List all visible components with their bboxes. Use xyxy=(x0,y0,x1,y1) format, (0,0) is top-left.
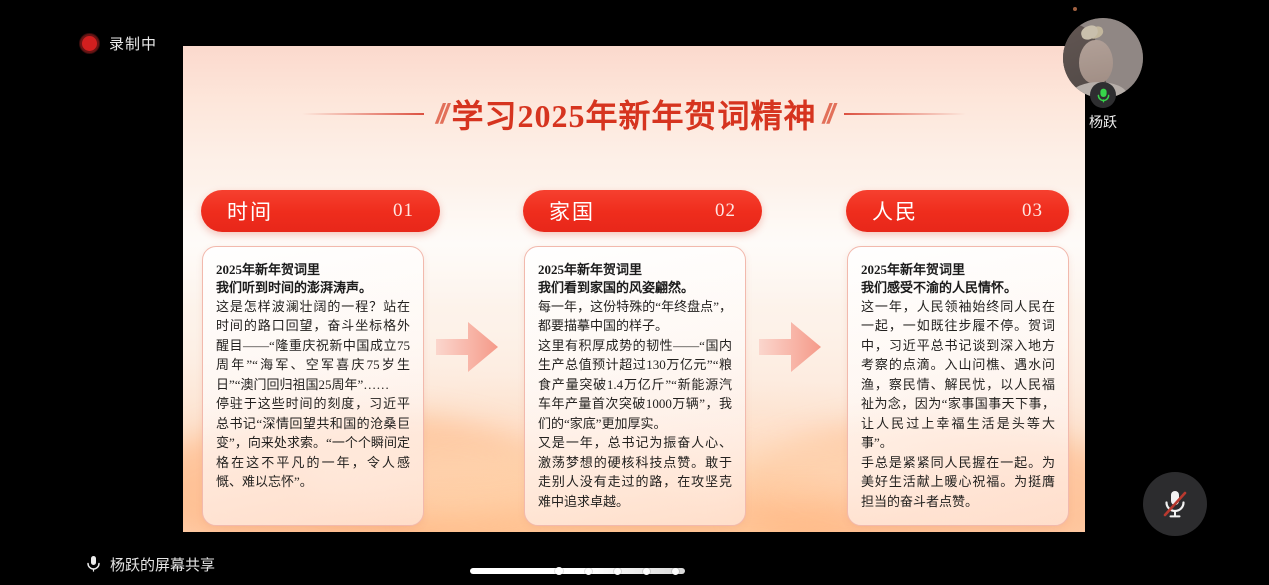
share-label: 杨跃的屏幕共享 xyxy=(110,554,215,575)
shared-slide[interactable]: // 学习2025年新年贺词精神 // 时间 01 家国 02 人民 03 20… xyxy=(183,46,1085,532)
section-number: 02 xyxy=(715,200,736,222)
page-dot[interactable] xyxy=(643,568,650,575)
microphone-icon xyxy=(1090,82,1116,108)
meeting-screen: 录制中 // 学习2025年新年贺词精神 // 时间 01 家国 02 人民 0 xyxy=(0,0,1269,585)
section-pill-03[interactable]: 人民 03 xyxy=(846,190,1069,232)
right-arrow-icon xyxy=(436,318,498,376)
section-name: 家国 xyxy=(549,196,595,226)
status-dot xyxy=(1073,7,1077,11)
section-number: 01 xyxy=(393,200,414,222)
card-body: 每一年，这份特殊的“年终盘点”，都要描摹中国的样子。这里有积厚成势的韧性——“国… xyxy=(538,297,732,512)
section-pill-01[interactable]: 时间 01 xyxy=(201,190,440,232)
recording-label: 录制中 xyxy=(109,33,157,54)
card-head-line1: 2025年新年贺词里 xyxy=(216,261,410,279)
title-slash-right: // xyxy=(823,100,833,128)
section-card-02: 2025年新年贺词里 我们看到家国的风姿翩然。 每一年，这份特殊的“年终盘点”，… xyxy=(524,246,746,526)
section-card-03: 2025年新年贺词里 我们感受不渝的人民情怀。 这一年，人民领袖始终同人民在一起… xyxy=(847,246,1069,526)
card-head-line1: 2025年新年贺词里 xyxy=(861,261,1055,279)
microphone-muted-button[interactable] xyxy=(1143,472,1207,536)
section-pill-02[interactable]: 家国 02 xyxy=(523,190,762,232)
page-dot[interactable] xyxy=(585,568,592,575)
microphone-muted-icon xyxy=(1162,489,1188,519)
title-rule-right xyxy=(844,113,966,115)
record-dot-icon xyxy=(80,34,99,53)
share-info: 杨跃的屏幕共享 xyxy=(86,554,215,575)
page-dot[interactable] xyxy=(555,567,563,575)
title-slash-left: // xyxy=(436,100,446,128)
page-dot[interactable] xyxy=(614,568,621,575)
card-body: 这是怎样波澜壮阔的一程？站在时间的路口回望，奋斗坐标格外醒目——“隆重庆祝新中国… xyxy=(216,297,410,492)
participant-name: 杨跃 xyxy=(1089,112,1117,132)
page-title: 学习2025年新年贺词精神 xyxy=(445,91,822,137)
card-head-line2: 我们感受不渝的人民情怀。 xyxy=(861,279,1055,297)
slide-title-row: // 学习2025年新年贺词精神 // xyxy=(183,91,1085,137)
card-head-line2: 我们看到家国的风姿翩然。 xyxy=(538,279,732,297)
title-rule-left xyxy=(302,113,424,115)
section-name: 人民 xyxy=(872,196,918,226)
section-number: 03 xyxy=(1022,200,1043,222)
share-status-bar: 杨跃的屏幕共享 xyxy=(0,543,1269,585)
page-dot[interactable] xyxy=(672,568,679,575)
right-arrow-icon xyxy=(759,318,821,376)
section-name: 时间 xyxy=(227,196,273,226)
card-head-line2: 我们听到时间的澎湃涛声。 xyxy=(216,279,410,297)
card-body: 这一年，人民领袖始终同人民在一起，一如既往步履不停。贺词中，习近平总书记谈到深入… xyxy=(861,297,1055,512)
microphone-icon xyxy=(86,555,101,573)
recording-indicator: 录制中 xyxy=(80,33,157,54)
card-head-line1: 2025年新年贺词里 xyxy=(538,261,732,279)
participant-tile[interactable]: 杨跃 xyxy=(1063,18,1143,132)
home-indicator[interactable] xyxy=(470,568,685,574)
section-card-01: 2025年新年贺词里 我们听到时间的澎湃涛声。 这是怎样波澜壮阔的一程？站在时间… xyxy=(202,246,424,526)
